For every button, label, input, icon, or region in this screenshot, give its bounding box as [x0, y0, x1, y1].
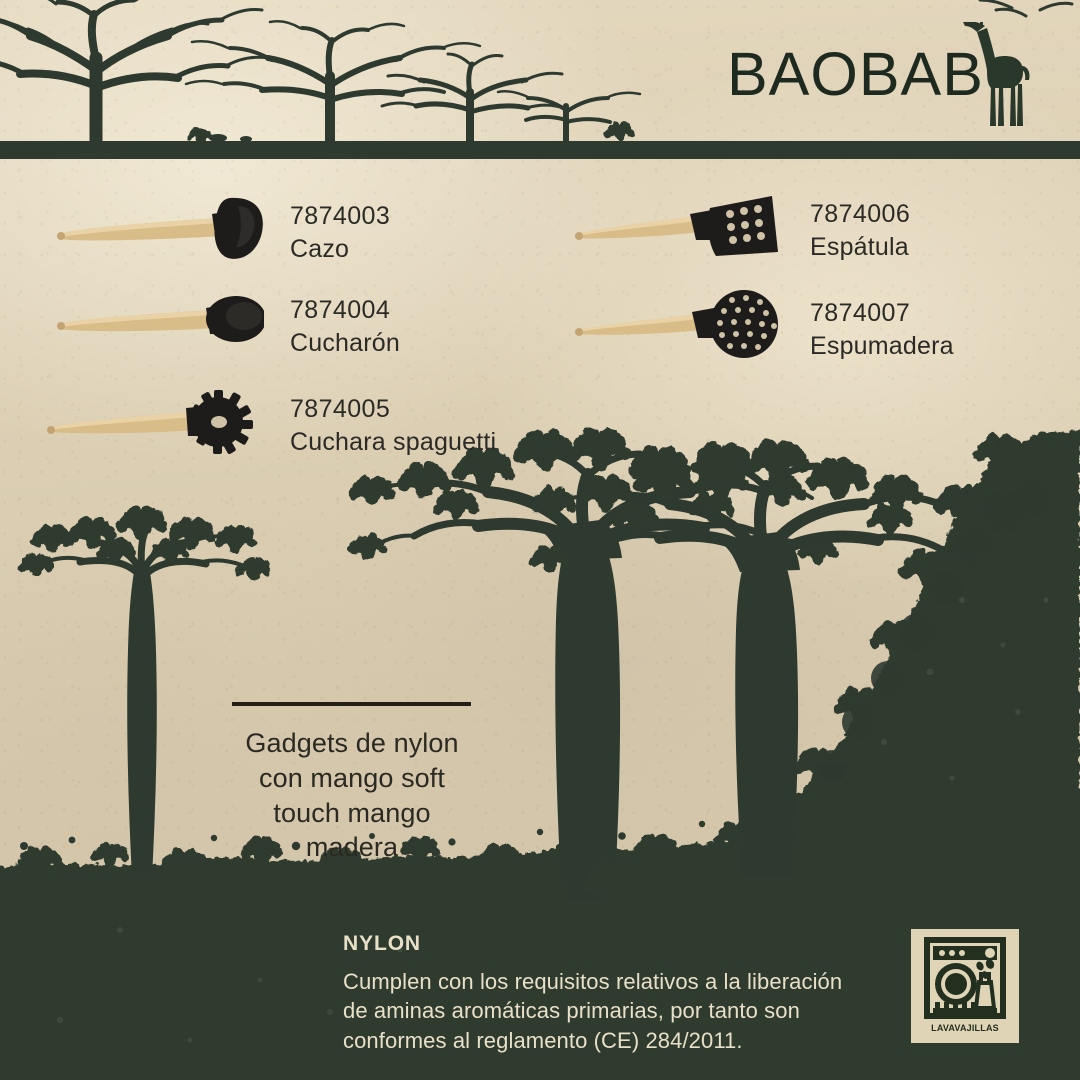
product-list: 7874003 Cazo 7874004 [0, 178, 1080, 478]
header-banner: BAOBAB [0, 0, 1080, 161]
product-name: Cuchara spaguetti [290, 426, 496, 459]
ladle-icon [52, 192, 264, 273]
product-code: 7874003 [290, 200, 390, 233]
brand-logo: BAOBAB [727, 44, 984, 105]
paper-grain-texture [0, 0, 1080, 1080]
product-code: 7874007 [810, 297, 954, 330]
product-row[interactable]: 7874006 Espátula [572, 184, 910, 277]
compliance-line-2: de aminas aromáticas primarias, por tant… [343, 996, 903, 1025]
product-name: Espumadera [810, 330, 954, 363]
product-row[interactable]: 7874003 Cazo [52, 192, 390, 273]
giraffe-icon [963, 22, 1035, 134]
product-sheet-page: BAOBAB [0, 0, 1080, 1080]
product-row[interactable]: 7874005 Cuchara spaguetti [22, 384, 496, 467]
product-code: 7874005 [290, 393, 496, 426]
slotted-spatula-icon [572, 184, 784, 277]
dishwasher-safe-badge: LAVAVAJILLAS [911, 929, 1019, 1043]
product-name: Cucharón [290, 327, 400, 360]
skimmer-icon [572, 286, 784, 373]
caption-line-2: con mango soft [232, 761, 472, 796]
dishwasher-safe-icon [923, 936, 1007, 1020]
compliance-line-1: Cumplen con los requisitos relativos a l… [343, 967, 903, 996]
footer-note: NYLON Cumplen con los requisitos relativ… [343, 932, 903, 1055]
material-title: NYLON [343, 932, 903, 956]
product-code: 7874004 [290, 294, 400, 327]
spaghetti-spoon-icon [22, 384, 264, 467]
product-name: Espátula [810, 231, 910, 264]
product-code: 7874006 [810, 198, 910, 231]
brand-name: BAOBAB [727, 44, 984, 105]
badge-label: LAVAVAJILLAS [931, 1023, 999, 1033]
serving-spoon-icon [52, 288, 264, 365]
compliance-line-3: conformes al reglamento (CE) 284/2011. [343, 1026, 903, 1055]
caption-block: Gadgets de nylon con mango soft touch ma… [232, 702, 472, 865]
caption-divider [232, 702, 471, 706]
caption-line-1: Gadgets de nylon [232, 726, 472, 761]
product-row[interactable]: 7874004 Cucharón [52, 288, 400, 365]
caption-line-4: madera [232, 830, 472, 865]
product-name: Cazo [290, 233, 390, 266]
caption-line-3: touch mango [232, 796, 472, 831]
product-row[interactable]: 7874007 Espumadera [572, 286, 954, 373]
